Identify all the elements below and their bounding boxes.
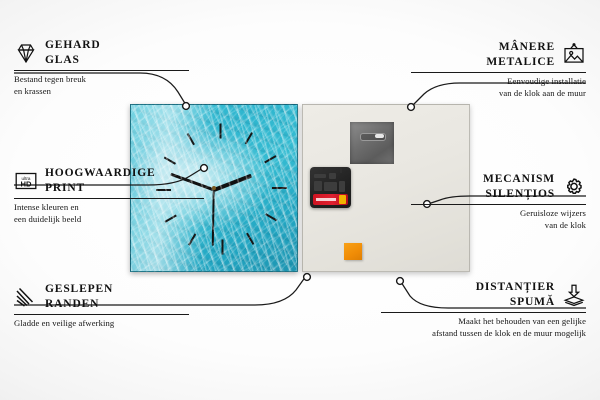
- callout-rule: [14, 70, 189, 71]
- connector-dot-randen: [304, 274, 311, 281]
- callout-distantier-spuma[interactable]: DISTANȚIERSPUMĂ Maakt het behouden van e…: [381, 280, 586, 339]
- callout-title: HOOGWAARDIGEPRINT: [45, 166, 156, 195]
- callout-gehard-glas[interactable]: GEHARDGLAS Bestand tegen breuken krassen: [14, 38, 189, 97]
- callout-geslepen-randen[interactable]: GESLEPENRANDEN Gladde en veilige afwerki…: [14, 282, 189, 330]
- callout-mecanism-silentios[interactable]: MECANISMSILENȚIOS Geruisloze wijzersvan …: [411, 172, 586, 231]
- callout-title: MECANISMSILENȚIOS: [483, 172, 555, 201]
- clock-tick: [220, 124, 222, 139]
- clock-tick: [222, 240, 224, 255]
- hour-hand: [213, 174, 252, 192]
- clock-center-pin: [212, 186, 216, 190]
- clock-tick: [246, 233, 254, 245]
- clock-tick: [265, 213, 277, 221]
- arrow-down-pad-icon: [562, 283, 586, 307]
- callout-description: Geruisloze wijzersvan de klok: [411, 208, 586, 231]
- callout-title: MÂNEREMETALICE: [486, 40, 555, 69]
- clock-tick: [188, 233, 196, 245]
- callout-description: Intense kleuren eneen duidelijk beeld: [14, 202, 204, 225]
- callout-rule: [411, 204, 586, 205]
- callout-title: DISTANȚIERSPUMĂ: [476, 280, 555, 309]
- callout-description: Gladde en veilige afwerking: [14, 318, 189, 329]
- second-hand: [212, 189, 214, 246]
- battery: [313, 194, 348, 205]
- callout-description: Maakt het behouden van een gelijkeafstan…: [381, 316, 586, 339]
- clock-tick: [264, 155, 276, 163]
- callout-manere-metalice[interactable]: MÂNEREMETALICE Eenvoudige installatievan…: [411, 40, 586, 99]
- diagonal-edges-icon: [14, 285, 38, 309]
- clock-tick: [187, 133, 195, 145]
- gear-icon: [562, 175, 586, 199]
- picture-frame-hanging-icon: [562, 43, 586, 67]
- callout-title: GESLEPENRANDEN: [45, 282, 113, 311]
- infographic-stage: GEHARDGLAS Bestand tegen breuken krassen…: [0, 0, 600, 400]
- ultra-hd-icon: ultra HD: [14, 169, 38, 193]
- clock-tick: [245, 132, 253, 144]
- clock-tick: [164, 157, 176, 165]
- callout-title: GEHARDGLAS: [45, 38, 101, 67]
- foam-spacer: [344, 243, 362, 260]
- callout-description: Bestand tegen breuken krassen: [14, 74, 189, 97]
- metal-hanger-plate: [350, 122, 394, 164]
- callout-rule: [411, 72, 586, 73]
- callout-rule: [14, 314, 189, 315]
- clock-tick: [272, 187, 287, 189]
- hanger-slot: [360, 133, 386, 141]
- callout-rule: [14, 198, 204, 199]
- callout-hoogwaardige-print[interactable]: ultra HD HOOGWAARDIGEPRINT Intense kleur…: [14, 166, 204, 225]
- diamond-icon: [14, 41, 38, 65]
- callout-description: Eenvoudige installatievan de klok aan de…: [411, 76, 586, 99]
- quartz-mechanism: [310, 167, 351, 208]
- svg-text:HD: HD: [21, 179, 32, 188]
- callout-rule: [381, 312, 586, 313]
